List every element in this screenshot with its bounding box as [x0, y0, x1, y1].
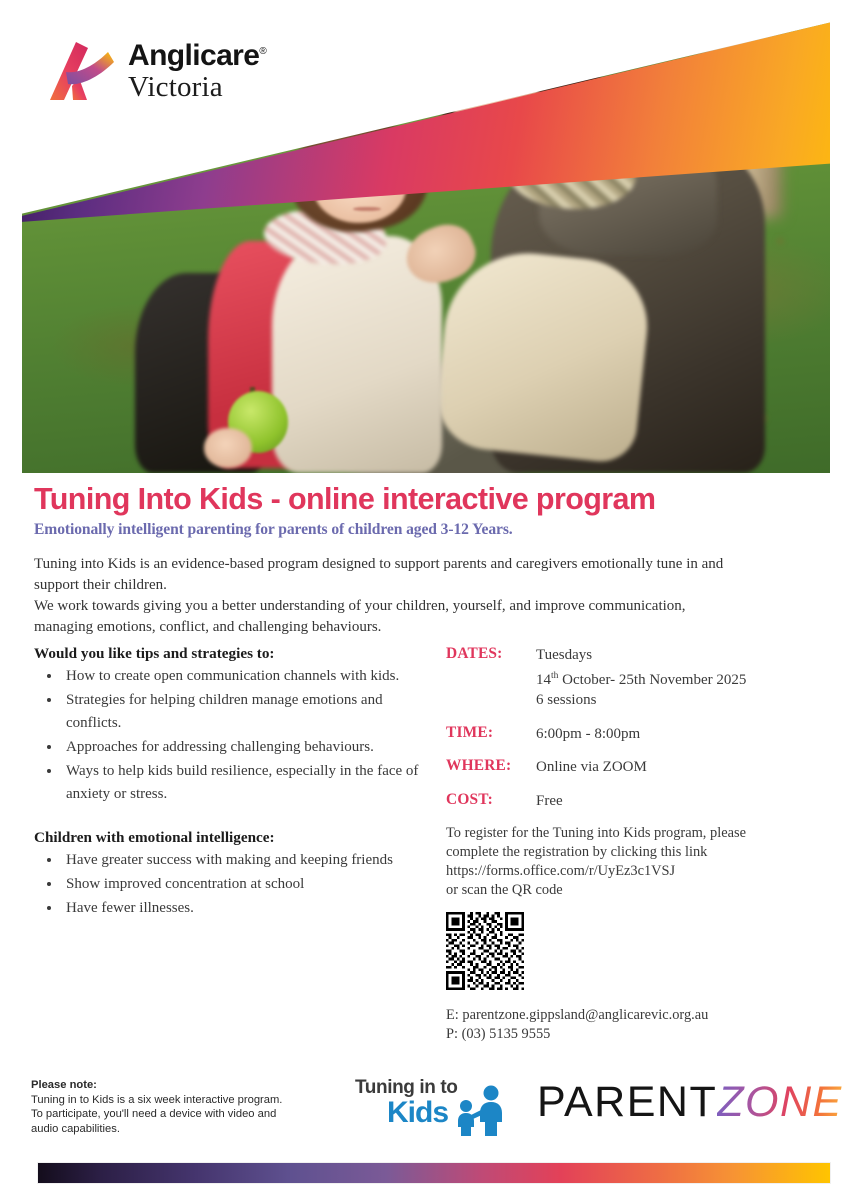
contact-email[interactable]: E: parentzone.gippsland@anglicarevic.org… — [446, 1006, 826, 1025]
outcomes-list: Have greater success with making and kee… — [38, 849, 424, 920]
parentzone-parent-text: PARENT — [537, 1078, 717, 1127]
registration-line-2: complete the registration by clicking th… — [446, 843, 826, 862]
dates-line-3: 6 sessions — [536, 690, 746, 711]
where-value: Online via ZOOM — [536, 757, 647, 778]
please-note-block: Please note: Tuning in to Kids is a six … — [31, 1078, 351, 1136]
date-day: 14 — [536, 672, 551, 688]
logo-line2: Victoria — [128, 73, 266, 102]
list-item: Approaches for addressing challenging be… — [62, 736, 424, 759]
detail-row-time: TIME: 6:00pm - 8:00pm — [446, 724, 826, 745]
dates-label: DATES: — [446, 645, 536, 663]
qr-code-icon[interactable] — [446, 912, 524, 990]
where-label: WHERE: — [446, 757, 536, 775]
please-note-line-2: To participate, you'll need a device wit… — [31, 1108, 276, 1120]
page-title: Tuning Into Kids - online interactive pr… — [34, 482, 824, 517]
time-line-1: 6:00pm - 8:00pm — [536, 724, 640, 745]
logo-line1: Anglicare — [128, 39, 259, 72]
parentzone-zone-text: ZONE — [717, 1078, 842, 1127]
intro-line-4: managing emotions, conflict, and challen… — [34, 617, 824, 638]
cost-label: COST: — [446, 791, 536, 809]
contact-phone: P: (03) 5135 9555 — [446, 1025, 826, 1044]
contact-block: E: parentzone.gippsland@anglicarevic.org… — [446, 1006, 826, 1044]
tips-heading: Would you like tips and strategies to: — [34, 645, 424, 663]
time-label: TIME: — [446, 724, 536, 742]
benefits-column: Would you like tips and strategies to: H… — [34, 645, 424, 921]
dates-line-2: 14th October- 25th November 2025 — [536, 666, 746, 691]
tips-list: How to create open communication channel… — [38, 665, 424, 806]
tuning-in-to-kids-logo: Tuning in to Kids — [355, 1078, 515, 1140]
detail-row-where: WHERE: Online via ZOOM — [446, 757, 826, 778]
photo-child-hand — [204, 428, 252, 469]
intro-line-3: We work towards giving you a better unde… — [34, 596, 824, 617]
intro-line-1: Tuning into Kids is an evidence-based pr… — [34, 554, 824, 575]
registration-link[interactable]: https://forms.office.com/r/UyEz3c1VSJ — [446, 862, 826, 881]
time-value: 6:00pm - 8:00pm — [536, 724, 640, 745]
intro-line-2: support their children. — [34, 575, 824, 596]
list-item: Ways to help kids build resilience, espe… — [62, 760, 424, 806]
dates-value: Tuesdays 14th October- 25th November 202… — [536, 645, 746, 711]
adult-and-child-figures-icon — [451, 1084, 509, 1138]
date-rest: October- 25th November 2025 — [558, 672, 746, 688]
detail-row-cost: COST: Free — [446, 791, 826, 812]
cost-value: Free — [536, 791, 563, 812]
parentzone-logo: PARENTZONE — [537, 1078, 843, 1127]
outcomes-heading: Children with emotional intelligence: — [34, 829, 424, 847]
list-item: Show improved concentration at school — [62, 873, 424, 896]
please-note-line-3: audio capabilities. — [31, 1123, 120, 1135]
intro-paragraph: Tuning into Kids is an evidence-based pr… — [34, 554, 824, 638]
registration-instructions: To register for the Tuning into Kids pro… — [446, 824, 826, 900]
please-note-line-1: Tuning in to Kids is a six week interact… — [31, 1094, 282, 1106]
list-item: Strategies for helping children manage e… — [62, 689, 424, 735]
details-column: DATES: Tuesdays 14th October- 25th Novem… — [446, 645, 826, 1044]
list-item: How to create open communication channel… — [62, 665, 424, 688]
logo-wordmark: Anglicare® Victoria — [128, 41, 266, 102]
list-item: Have greater success with making and kee… — [62, 849, 424, 872]
please-note-heading: Please note: — [31, 1079, 97, 1091]
where-line-1: Online via ZOOM — [536, 757, 647, 778]
registered-mark: ® — [259, 46, 266, 57]
page-subtitle: Emotionally intelligent parenting for pa… — [34, 521, 824, 539]
dates-line-1: Tuesdays — [536, 645, 746, 666]
anglicare-victoria-logo: Anglicare® Victoria — [46, 38, 266, 104]
cost-line-1: Free — [536, 791, 563, 812]
detail-row-dates: DATES: Tuesdays 14th October- 25th Novem… — [446, 645, 826, 711]
anglicare-a-mark-icon — [46, 38, 118, 104]
bottom-gradient-bar — [38, 1163, 830, 1183]
registration-line-4: or scan the QR code — [446, 881, 826, 900]
registration-line-1: To register for the Tuning into Kids pro… — [446, 824, 826, 843]
list-item: Have fewer illnesses. — [62, 897, 424, 920]
flyer-page: Anglicare® Victoria Tuning Into Kids - o… — [0, 0, 849, 1200]
